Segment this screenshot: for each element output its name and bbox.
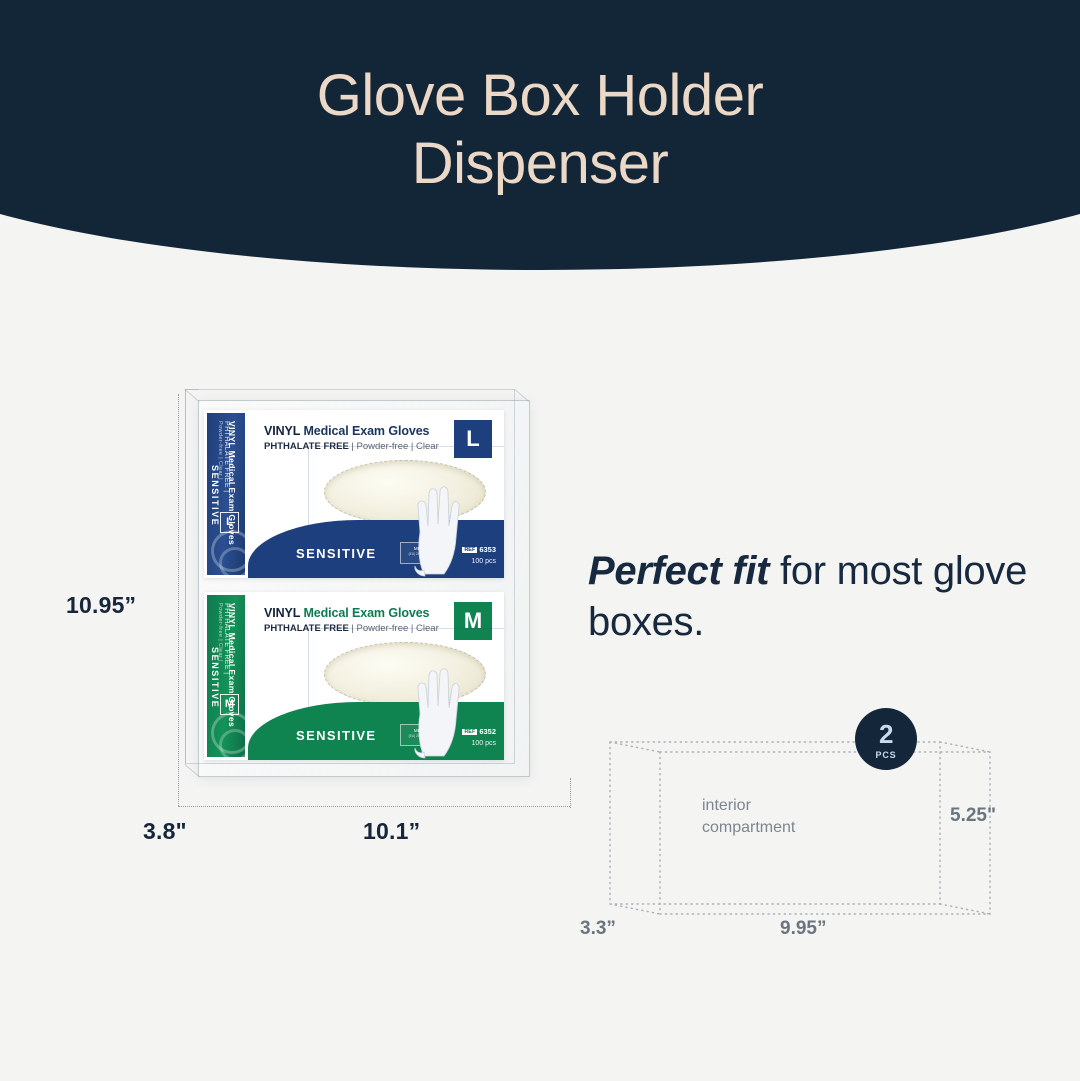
tagline: Perfect fit for most glove boxes. [588,546,1058,648]
glove-box-large-side-panel: VINYL Medical Exam Gloves PHTHALATE FREE… [204,410,248,578]
interior-compartment-label: interior compartment [702,795,795,838]
dimension-label-width: 10.1” [363,818,420,845]
page-title-line2: Dispenser [0,130,1080,198]
dimension-guide-right [570,778,571,808]
interior-dimension-width: 9.95” [780,918,826,940]
side-subline: PHTHALATE FREE | [223,421,230,493]
front-headline-rest: Medical Exam Gloves [303,424,429,438]
side-subline: PHTHALATE FREE | [223,603,230,675]
side-panel-fill: VINYL Medical Exam Gloves PHTHALATE FREE… [207,413,245,575]
infographic-canvas: Glove Box Holder Dispenser VINYL Medical… [0,0,1080,1081]
dimension-guide-height [178,394,179,806]
interior-dimension-height: 5.25" [950,805,996,827]
piece-count: 100 pcs [471,558,496,565]
front-headline: VINYL Medical Exam Gloves [264,424,429,438]
glove-box-medium-front: VINYL Medical Exam Gloves PHTHALATE FREE… [248,592,504,760]
holder-diagonal-bottom-left [184,764,199,777]
page-title-line1: Glove Box Holder [317,63,764,128]
badge-unit: PCS [855,750,917,760]
swirl-graphic-2 [219,547,248,578]
front-brand: SENSITIVE [296,546,377,561]
front-headline-word: VINYL [264,606,300,620]
holder-diagonal-top-left [184,389,199,402]
front-brand: SENSITIVE [296,728,377,743]
glove-box-large-front: VINYL Medical Exam Gloves PHTHALATE FREE… [248,410,504,578]
oval-window-gloves [324,460,486,524]
glove-box-large: VINYL Medical Exam Gloves PHTHALATE FREE… [204,410,504,578]
interior-dimension-depth: 3.3” [580,918,616,940]
piece-count: 100 pcs [471,740,496,747]
side-brand: SENSITIVE [210,647,220,708]
badge-number: 2 [855,708,917,747]
ref-tag: REF [462,547,477,553]
glove-box-medium-side-panel: VINYL Medical Exam Gloves PHTHALATE FREE… [204,592,248,760]
ref-code: REF6353 [462,545,496,554]
tagline-emphasis: Perfect fit [588,549,769,593]
dimension-guide-width [178,806,570,807]
ref-code: REF6352 [462,727,496,736]
holder-diagonal-top-right [514,389,529,402]
dimension-label-depth: 3.8" [143,818,187,845]
quantity-badge: 2 PCS [855,708,917,770]
dimension-label-height: 10.95” [66,592,136,619]
product-photo-group: VINYL Medical Exam Gloves PHTHALATE FREE… [150,380,580,800]
front-headline: VINYL Medical Exam Gloves [264,606,429,620]
glove-box-medium: VINYL Medical Exam Gloves PHTHALATE FREE… [204,592,504,760]
front-headline-word: VINYL [264,424,300,438]
swirl-graphic-2 [219,729,248,760]
glove-illustration [406,648,460,760]
front-headline-rest: Medical Exam Gloves [303,606,429,620]
interior-label-line1: interior [702,797,751,814]
glove-illustration [406,466,460,578]
oval-window-gloves [324,642,486,706]
interior-compartment-diagram: interior compartment 3.3” 9.95” 5.25" [580,690,1050,970]
interior-label-line2: compartment [702,819,795,836]
ref-number: 6352 [479,727,496,736]
side-brand: SENSITIVE [210,465,220,526]
side-panel-fill: VINYL Medical Exam Gloves PHTHALATE FREE… [207,595,245,757]
header-banner: Glove Box Holder Dispenser [0,0,1080,300]
page-title: Glove Box Holder Dispenser [0,62,1080,199]
ref-number: 6353 [479,545,496,554]
holder-back-edge [185,389,186,764]
ref-tag: REF [462,729,477,735]
